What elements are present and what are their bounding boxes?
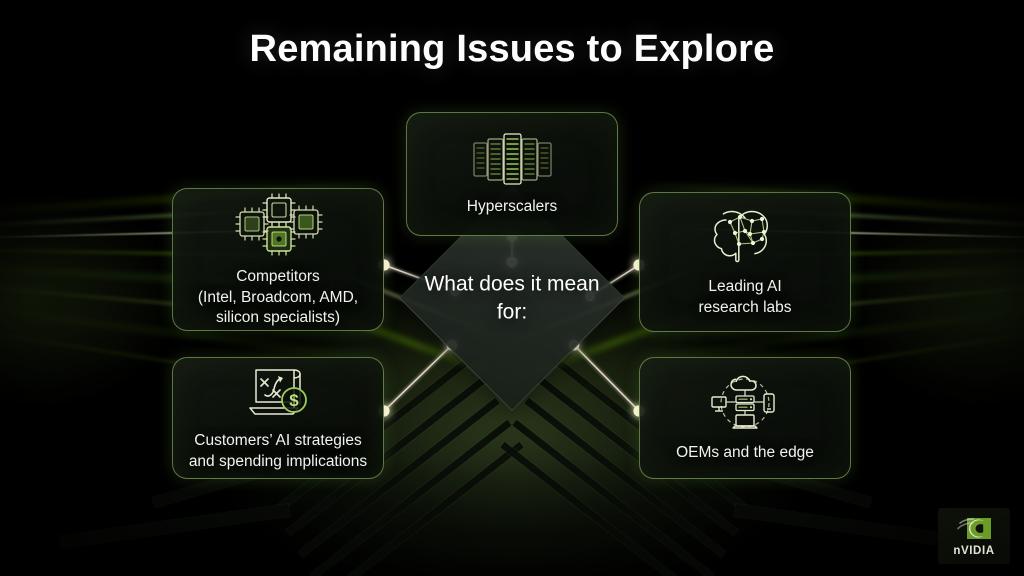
slide-canvas: Remaining Issues to Explore (0, 0, 1024, 576)
cpu-chips-icon (230, 190, 326, 258)
brain-network-icon (706, 206, 784, 268)
center-node-label: What does it mean for: (408, 270, 616, 325)
node-card-label-oems: OEMs and the edge (676, 443, 814, 464)
node-card-oems[interactable]: OEMs and the edge (639, 357, 851, 479)
node-card-hyperscalers[interactable]: Hyperscalers (406, 112, 618, 236)
svg-text:$: $ (289, 391, 299, 410)
node-card-label-ailabs: Leading AI research labs (698, 277, 791, 318)
server-racks-icon (466, 130, 558, 188)
node-card-competitors[interactable]: Competitors (Intel, Broadcom, AMD, silic… (172, 188, 384, 331)
node-card-customers[interactable]: $ Customers’ AI strategies and spending … (172, 357, 384, 479)
nvidia-logo: nVIDIA (938, 508, 1010, 564)
node-card-label-competitors: Competitors (Intel, Broadcom, AMD, silic… (198, 267, 358, 329)
cloud-devices-network-icon (706, 372, 784, 434)
node-card-label-customers: Customers’ AI strategies and spending im… (189, 431, 367, 472)
node-card-label-hyperscalers: Hyperscalers (467, 197, 557, 218)
nvidia-eye-icon (953, 516, 995, 542)
nvidia-wordmark: nVIDIA (953, 545, 994, 557)
strategy-board-dollar-icon: $ (240, 364, 316, 422)
node-card-ailabs[interactable]: Leading AI research labs (639, 192, 851, 332)
center-node[interactable]: What does it mean for: (432, 218, 592, 378)
